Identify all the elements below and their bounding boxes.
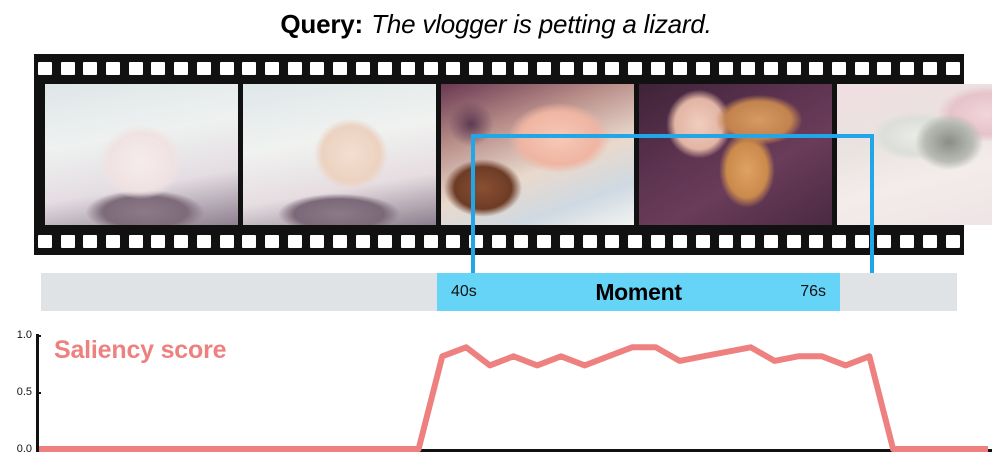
- sprocket-hole: [946, 62, 960, 75]
- sprocket-hole: [832, 235, 846, 248]
- sprocket-hole: [628, 62, 642, 75]
- sprocket-hole: [83, 62, 97, 75]
- sprocket-hole: [378, 235, 392, 248]
- sprocket-hole: [265, 235, 279, 248]
- query-colon: :: [355, 9, 364, 40]
- sprocket-hole: [855, 235, 869, 248]
- sprocket-hole: [106, 235, 120, 248]
- sprocket-hole: [401, 62, 415, 75]
- sprocket-hole: [946, 235, 960, 248]
- filmstrip: [34, 54, 964, 255]
- moment-bar-track[interactable]: 40s Moment 76s: [41, 273, 957, 311]
- sprocket-hole: [492, 235, 506, 248]
- sprocket-hole: [242, 235, 256, 248]
- sprocket-hole: [673, 62, 687, 75]
- sprocket-hole: [61, 235, 75, 248]
- sprocket-hole: [220, 62, 234, 75]
- sprocket-hole: [809, 235, 823, 248]
- sprocket-hole: [61, 62, 75, 75]
- sprocket-hole: [424, 62, 438, 75]
- sprocket-hole: [242, 62, 256, 75]
- sprocket-hole: [469, 235, 483, 248]
- sprocket-hole: [265, 62, 279, 75]
- sprocket-hole: [151, 62, 165, 75]
- saliency-chart: 1.0 0.5 0.0 Saliency score: [0, 320, 992, 469]
- sprocket-hole: [106, 62, 120, 75]
- sprocket-hole: [651, 62, 665, 75]
- sprocket-row-bottom: [34, 231, 964, 251]
- sprocket-hole: [741, 235, 755, 248]
- moment-label: Moment: [437, 279, 840, 306]
- sprocket-hole: [583, 235, 597, 248]
- sprocket-hole: [628, 235, 642, 248]
- sprocket-hole: [174, 235, 188, 248]
- sprocket-hole: [446, 235, 460, 248]
- sprocket-hole: [877, 62, 891, 75]
- sprocket-hole: [673, 235, 687, 248]
- sprocket-hole: [38, 235, 52, 248]
- sprocket-hole: [129, 62, 143, 75]
- sprocket-hole: [809, 62, 823, 75]
- sprocket-hole: [288, 235, 302, 248]
- query-text: The vlogger is petting a lizard.: [371, 9, 711, 40]
- sprocket-hole: [83, 235, 97, 248]
- sprocket-hole: [719, 62, 733, 75]
- sprocket-hole: [424, 235, 438, 248]
- sprocket-hole: [696, 62, 710, 75]
- video-frame-3[interactable]: [441, 84, 634, 225]
- sprocket-hole: [583, 62, 597, 75]
- sprocket-hole: [197, 62, 211, 75]
- sprocket-hole: [537, 235, 551, 248]
- sprocket-row-top: [34, 58, 964, 78]
- sprocket-hole: [900, 235, 914, 248]
- sprocket-hole: [923, 235, 937, 248]
- sprocket-hole: [764, 235, 778, 248]
- sprocket-hole: [605, 62, 619, 75]
- sprocket-hole: [197, 235, 211, 248]
- sprocket-hole: [356, 235, 370, 248]
- sprocket-hole: [923, 62, 937, 75]
- sprocket-hole: [38, 62, 52, 75]
- sprocket-hole: [492, 62, 506, 75]
- query-header: Query: The vlogger is petting a lizard.: [0, 0, 992, 48]
- video-frame-2[interactable]: [243, 84, 436, 225]
- moment-bar-fill[interactable]: 40s Moment 76s: [437, 273, 840, 311]
- sprocket-hole: [787, 62, 801, 75]
- sprocket-hole: [174, 62, 188, 75]
- filmstrip-frames: [45, 84, 953, 225]
- sprocket-hole: [877, 235, 891, 248]
- sprocket-hole: [310, 235, 324, 248]
- sprocket-hole: [605, 235, 619, 248]
- sprocket-hole: [514, 62, 528, 75]
- sprocket-hole: [855, 62, 869, 75]
- sprocket-hole: [129, 235, 143, 248]
- sprocket-hole: [401, 235, 415, 248]
- sprocket-hole: [333, 62, 347, 75]
- sprocket-hole: [333, 235, 347, 248]
- sprocket-hole: [356, 62, 370, 75]
- sprocket-hole: [537, 62, 551, 75]
- sprocket-hole: [787, 235, 801, 248]
- sprocket-hole: [900, 62, 914, 75]
- sprocket-hole: [560, 62, 574, 75]
- sprocket-hole: [446, 62, 460, 75]
- sprocket-hole: [288, 62, 302, 75]
- sprocket-hole: [220, 235, 234, 248]
- saliency-title: Saliency score: [54, 336, 226, 365]
- sprocket-hole: [719, 235, 733, 248]
- sprocket-hole: [741, 62, 755, 75]
- sprocket-hole: [832, 62, 846, 75]
- video-frame-1[interactable]: [45, 84, 238, 225]
- sprocket-hole: [469, 62, 483, 75]
- sprocket-hole: [514, 235, 528, 248]
- sprocket-hole: [764, 62, 778, 75]
- sprocket-hole: [696, 235, 710, 248]
- sprocket-hole: [560, 235, 574, 248]
- sprocket-hole: [378, 62, 392, 75]
- video-frame-5[interactable]: [837, 84, 992, 225]
- video-frame-4[interactable]: [639, 84, 832, 225]
- sprocket-hole: [151, 235, 165, 248]
- query-label: Query: [280, 9, 354, 40]
- sprocket-hole: [651, 235, 665, 248]
- sprocket-hole: [310, 62, 324, 75]
